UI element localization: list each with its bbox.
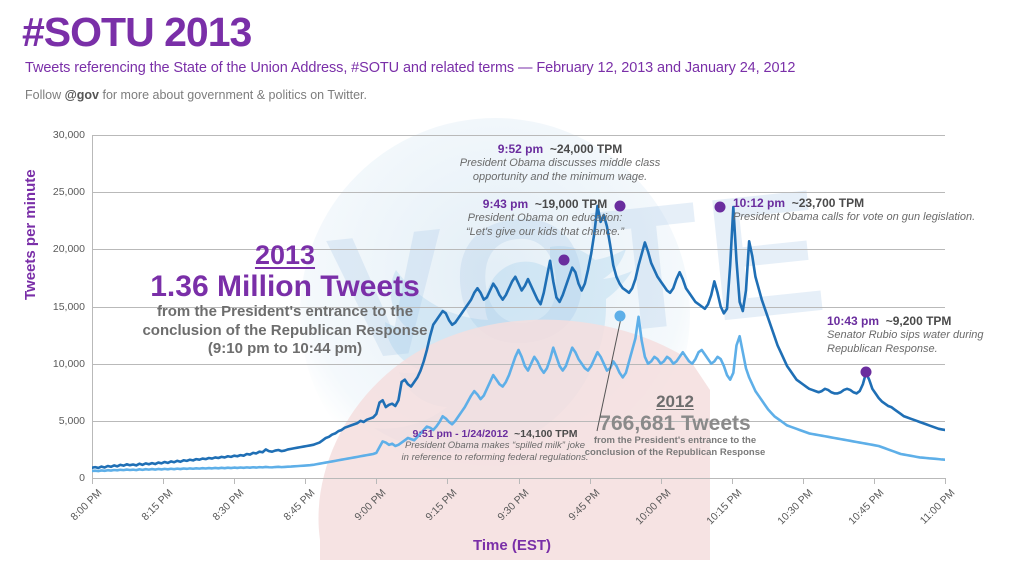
x-axis-tick xyxy=(519,478,520,484)
x-axis-tick-label: 8:00 PM xyxy=(68,487,104,523)
y-axis-tick-label: 5,000 xyxy=(59,415,85,427)
annotation-952-headline: 9:52 pm ~24,000 TPM xyxy=(415,142,705,156)
annotation-1043-headline: 10:43 pm ~9,200 TPM xyxy=(827,314,1024,328)
follow-line: Follow @gov for more about government & … xyxy=(25,88,367,102)
x-axis-tick xyxy=(590,478,591,484)
x-axis-tick xyxy=(661,478,662,484)
x-axis-tick xyxy=(376,478,377,484)
annotation-943-desc1: President Obama on education: xyxy=(400,211,690,225)
annotation-1043-time: 10:43 pm xyxy=(827,314,879,328)
annotation-1043-tpm: ~9,200 TPM xyxy=(886,314,952,328)
annotation-1043-desc2: Republican Response. xyxy=(827,342,1024,356)
annotation-952: 9:52 pm ~24,000 TPM President Obama disc… xyxy=(415,142,705,184)
page-subtitle: Tweets referencing the State of the Unio… xyxy=(25,60,795,76)
annotation-1012: 10:12 pm ~23,700 TPM President Obama cal… xyxy=(733,196,1023,224)
x-axis-tick-label: 10:30 PM xyxy=(775,487,815,527)
x-axis-tick xyxy=(447,478,448,484)
annotation-951-2012: 9:51 pm - 1/24/2012 ~14,100 TPM Presiden… xyxy=(384,428,606,464)
infographic-root: VOTE #SOTU 2013 Tweets referencing the S… xyxy=(0,0,1024,576)
y-axis-tick-label: 0 xyxy=(79,472,85,484)
annotation-1043: 10:43 pm ~9,200 TPM Senator Rubio sips w… xyxy=(827,314,1024,356)
x-axis-tick-label: 8:15 PM xyxy=(139,487,175,523)
y-axis-tick-label: 10,000 xyxy=(53,358,85,370)
annotation-951-desc2: in reference to reforming federal regula… xyxy=(384,452,606,464)
x-axis-tick-label: 9:45 PM xyxy=(566,487,602,523)
follow-suffix: for more about government & politics on … xyxy=(99,88,367,102)
x-axis-tick xyxy=(92,478,93,484)
y-axis-tick-label: 15,000 xyxy=(53,301,85,313)
y-axis-tick-label: 30,000 xyxy=(53,129,85,141)
x-axis-title: Time (EST) xyxy=(0,537,1024,554)
y-axis-title: Tweets per minute xyxy=(22,169,39,300)
x-axis-tick-label: 9:15 PM xyxy=(424,487,460,523)
x-axis-tick-label: 8:30 PM xyxy=(211,487,247,523)
annotation-943: 9:43 pm ~19,000 TPM President Obama on e… xyxy=(400,197,690,239)
callout-2013-line2: conclusion of the Republican Response xyxy=(120,322,450,340)
annotation-943-tpm: ~19,000 TPM xyxy=(535,197,607,211)
x-axis-tick-label: 8:45 PM xyxy=(282,487,318,523)
x-axis-tick-label: 10:45 PM xyxy=(846,487,886,527)
annotation-943-time: 9:43 pm xyxy=(483,197,528,211)
x-axis-tick-label: 9:00 PM xyxy=(353,487,389,523)
callout-2013: 2013 1.36 Million Tweets from the Presid… xyxy=(120,240,450,358)
callout-2013-line1: from the President's entrance to the xyxy=(120,303,450,321)
x-axis-tick-label: 10:00 PM xyxy=(633,487,673,527)
follow-prefix: Follow xyxy=(25,88,65,102)
annotation-952-desc1: President Obama discusses middle class xyxy=(415,156,705,170)
annotation-1012-desc1: President Obama calls for vote on gun le… xyxy=(733,210,1023,224)
annotation-951-tpm: ~14,100 TPM xyxy=(514,428,577,440)
annotation-952-tpm: ~24,000 TPM xyxy=(550,142,622,156)
callout-2013-total: 1.36 Million Tweets xyxy=(120,271,450,303)
x-axis-tick xyxy=(305,478,306,484)
annotation-951-time: 9:51 pm - 1/24/2012 xyxy=(413,428,509,440)
x-axis-tick-label: 9:30 PM xyxy=(495,487,531,523)
y-axis-tick-label: 20,000 xyxy=(53,243,85,255)
page-title: #SOTU 2013 xyxy=(22,12,251,53)
annotation-951-desc1: President Obama makes “spilled milk” jok… xyxy=(384,440,606,452)
annotation-1012-tpm: ~23,700 TPM xyxy=(792,196,864,210)
gov-handle[interactable]: @gov xyxy=(65,88,99,102)
x-axis-tick xyxy=(732,478,733,484)
annotation-943-headline: 9:43 pm ~19,000 TPM xyxy=(400,197,690,211)
y-axis-tick-label: 25,000 xyxy=(53,186,85,198)
annotation-952-desc2: opportunity and the minimum wage. xyxy=(415,170,705,184)
x-axis-tick xyxy=(163,478,164,484)
x-axis-tick xyxy=(874,478,875,484)
callout-2012-year: 2012 xyxy=(560,392,790,412)
annotation-951-headline: 9:51 pm - 1/24/2012 ~14,100 TPM xyxy=(384,428,606,440)
annotation-943-desc2: “Let's give our kids that chance.” xyxy=(400,225,690,239)
x-axis-tick xyxy=(945,478,946,484)
callout-2013-line3: (9:10 pm to 10:44 pm) xyxy=(120,340,450,358)
callout-2013-year: 2013 xyxy=(120,240,450,271)
annotation-952-time: 9:52 pm xyxy=(498,142,543,156)
x-axis-tick-label: 11:00 PM xyxy=(918,487,958,527)
x-axis-tick-label: 10:15 PM xyxy=(704,487,744,527)
x-axis-tick xyxy=(803,478,804,484)
x-axis-tick xyxy=(234,478,235,484)
annotation-1012-time: 10:12 pm xyxy=(733,196,785,210)
annotation-1043-desc1: Senator Rubio sips water during xyxy=(827,328,1024,342)
annotation-1012-headline: 10:12 pm ~23,700 TPM xyxy=(733,196,1023,210)
